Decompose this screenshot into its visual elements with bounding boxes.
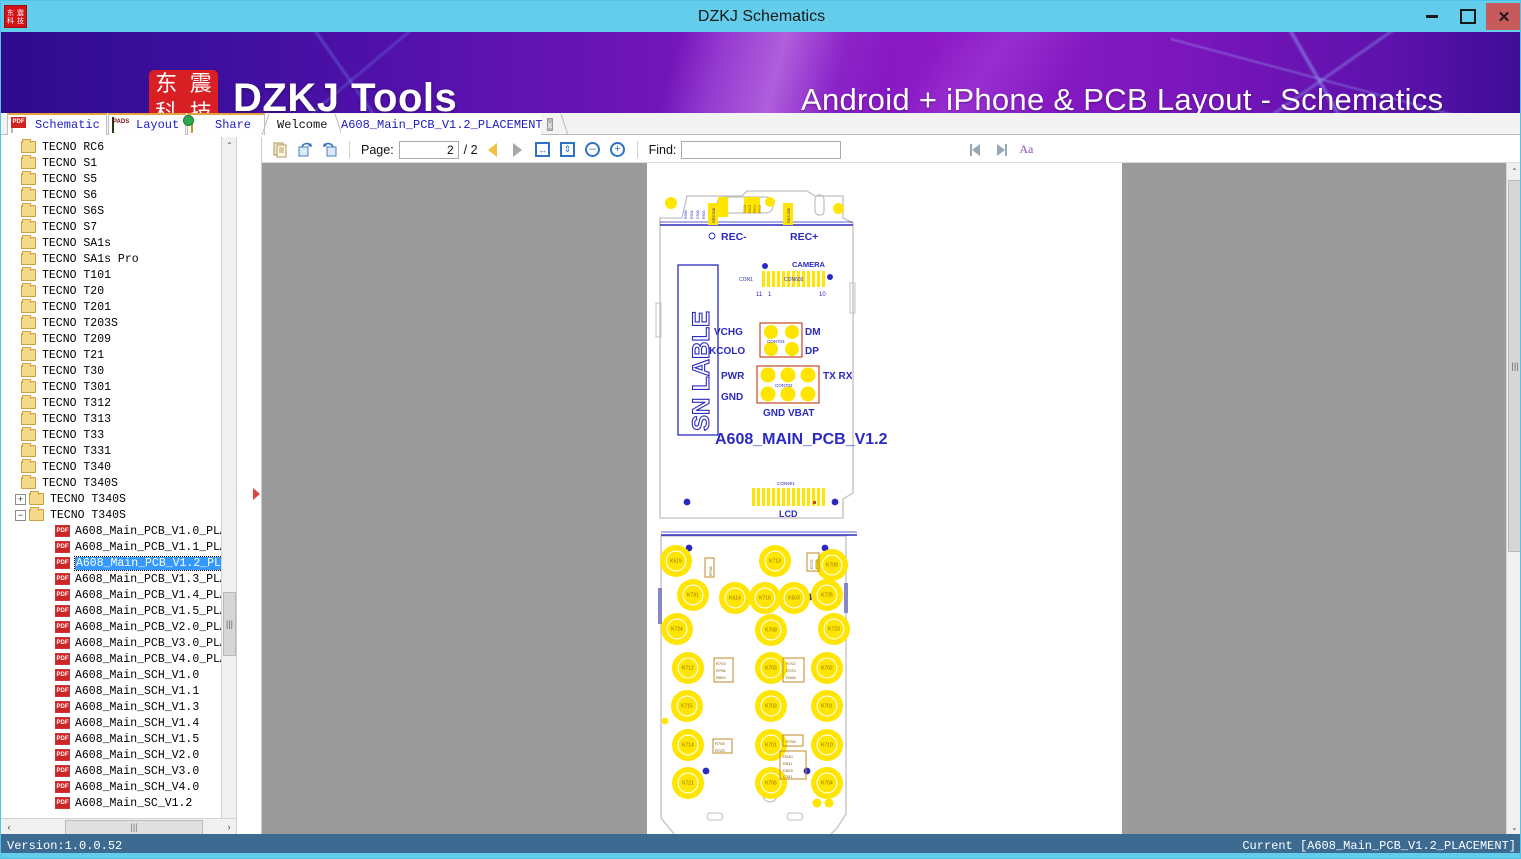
tree-item-folder[interactable]: TECNO T209 <box>1 331 236 347</box>
keypad-label: K731 <box>687 593 699 599</box>
tree-item-document[interactable]: A608_Main_SCH_V1.5 <box>1 731 236 747</box>
page-input[interactable] <box>399 141 459 159</box>
svg-text:R725: R725 <box>715 748 725 753</box>
tree-item-document[interactable]: A608_Main_SCH_V4.0 <box>1 779 236 795</box>
tree-item-label: TECNO S1 <box>42 157 97 170</box>
keypad-label: K701 <box>821 704 833 710</box>
tree-item-label: A608_Main_SCH_V1.3 <box>75 701 199 714</box>
tab-schematic[interactable]: Schematic <box>7 113 107 135</box>
page-label: Page: <box>361 143 394 157</box>
viewer-scroll-down-icon[interactable]: ⌄ <box>1507 819 1521 835</box>
tree-item-label: TECNO SA1s Pro <box>42 253 139 266</box>
keypad-label: K715 <box>681 704 693 710</box>
tree-item-label: A608_Main_PCB_V1.1_PLACEMENT <box>75 541 237 554</box>
svg-text:KCOLO: KCOLO <box>709 346 745 357</box>
share-folder-icon <box>191 118 211 133</box>
sidebar-horizontal-scrollbar[interactable]: ‹ ||| › <box>1 818 237 835</box>
file-tree: TECNO RC6TECNO S1TECNO S5TECNO S6TECNO S… <box>1 137 236 811</box>
tree-item-document[interactable]: A608_Main_PCB_V1.2_PLACEMENT <box>1 555 236 571</box>
tree-item-label: TECNO S6S <box>42 205 104 218</box>
h-scroll-thumb[interactable]: ||| <box>65 820 203 835</box>
current-document-label: Current [A608_Main_PCB_V1.2_PLACEMENT] <box>1242 839 1516 853</box>
svg-text:CON601: CON601 <box>777 481 795 486</box>
folder-icon <box>21 429 36 441</box>
tree-item-label: TECNO T312 <box>42 397 111 410</box>
svg-text:REC308: REC308 <box>711 207 716 223</box>
find-next-icon[interactable] <box>991 140 1011 160</box>
svg-text:PWR: PWR <box>721 371 745 382</box>
rotate-counterclockwise-icon[interactable] <box>320 140 340 160</box>
keypad-label: K703 <box>765 704 777 710</box>
tab-share[interactable]: Share <box>187 113 265 135</box>
tree-item-folder[interactable]: TECNO S5 <box>1 171 236 187</box>
pdf-page: R506 R501 C508 R503 C508 R503 R501 R506 … <box>647 163 1122 835</box>
tree-item-folder[interactable]: TECNO T20 <box>1 283 236 299</box>
collapse-icon[interactable]: − <box>15 510 26 521</box>
brand-logo-char-1: 东 <box>155 74 177 96</box>
brand-logo-char-3: 科 <box>155 103 177 114</box>
tree-item-document[interactable]: A608_Main_PCB_V1.0_PLACEMENT <box>1 523 236 539</box>
find-previous-icon[interactable] <box>966 140 986 160</box>
folder-icon <box>21 413 36 425</box>
brand-logo-char-2: 震 <box>190 74 212 96</box>
tree-item-label: TECNO RC6 <box>42 141 104 154</box>
folder-icon <box>21 461 36 473</box>
svg-text:TX RX: TX RX <box>823 371 853 382</box>
svg-text:R708: R708 <box>814 559 819 569</box>
scroll-right-icon[interactable]: › <box>221 820 237 835</box>
brand-name: DZKJ Tools <box>233 76 457 113</box>
svg-text:R702: R702 <box>786 661 796 666</box>
tree-item-label: TECNO T33 <box>42 429 104 442</box>
pdf-icon <box>11 118 31 133</box>
tree-item-document[interactable]: A608_Main_PCB_V4.0_PLACEMENT <box>1 651 236 667</box>
keypad-label: K703 <box>765 666 777 672</box>
folder-icon <box>21 445 36 457</box>
tree-item-label: TECNO T101 <box>42 269 111 282</box>
folder-icon <box>21 173 36 185</box>
tree-item-folder[interactable]: TECNO S6S <box>1 203 236 219</box>
pdf-icon <box>55 637 70 649</box>
maximize-button[interactable] <box>1450 3 1486 30</box>
page-total: / 2 <box>464 143 478 157</box>
folder-icon <box>21 157 36 169</box>
svg-text:R506: R506 <box>758 205 762 213</box>
tree-item-label: TECNO T20 <box>42 285 104 298</box>
doc-tab-welcome[interactable]: Welcome <box>265 114 345 135</box>
tree-item-document[interactable]: A608_Main_PCB_V1.5_PLACEMENT <box>1 603 236 619</box>
svg-text:R708: R708 <box>708 566 713 576</box>
svg-text:R723: R723 <box>786 668 796 673</box>
tree-item-label: TECNO T340 <box>42 461 111 474</box>
tree-item-label: TECNO T21 <box>42 349 104 362</box>
tree-item-label: TECNO S6 <box>42 189 97 202</box>
tree-item-document[interactable]: A608_Main_SCH_V1.0 <box>1 667 236 683</box>
tree-item-folder[interactable]: TECNO S7 <box>1 219 236 235</box>
tree-item-label: A608_Main_PCB_V1.2_PLACEMENT <box>75 557 237 570</box>
pdf-viewer: Page: / 2 ↔ ⇕ – + Find: Aa <box>261 137 1521 835</box>
brand-logo-icon: 东 震 科 技 <box>149 70 218 113</box>
tree-item-label: A608_Main_SCH_V4.0 <box>75 781 199 794</box>
tree-item-document[interactable]: A608_Main_SC_V1.2 <box>1 795 236 811</box>
viewer-scrollbar[interactable]: ⌃ ||| ⌄ <box>1506 163 1521 835</box>
keypad-label: K702 <box>821 666 833 672</box>
pdf-icon <box>55 797 70 809</box>
keypad-label: K503 <box>788 596 800 602</box>
tree-item-folder[interactable]: TECNO T203S <box>1 315 236 331</box>
sidebar-scrollbar[interactable]: ⌃ ||| ⌄ <box>221 137 236 835</box>
toolbar-divider <box>349 141 350 158</box>
next-page-icon[interactable] <box>508 140 528 160</box>
tree-item-folder[interactable]: TECNO SA1s Pro <box>1 251 236 267</box>
svg-text:DP: DP <box>805 346 819 357</box>
keypad-label: K712 <box>682 666 694 672</box>
viewer-toolbar: Page: / 2 ↔ ⇕ – + Find: Aa <box>262 137 1521 163</box>
viewer-scroll-up-icon[interactable]: ⌃ <box>1507 163 1521 179</box>
previous-page-icon[interactable] <box>483 140 503 160</box>
svg-text:R506: R506 <box>684 210 688 219</box>
pdf-icon <box>55 765 70 777</box>
folder-icon <box>21 397 36 409</box>
folder-icon <box>21 317 36 329</box>
svg-text:VCHG: VCHG <box>714 327 743 338</box>
folder-icon <box>21 285 36 297</box>
svg-text:R708: R708 <box>715 741 725 746</box>
svg-text:R240: R240 <box>783 754 793 759</box>
pdf-icon <box>55 589 70 601</box>
pads-icon <box>112 118 132 133</box>
tree-item-folder[interactable]: TECNO T331 <box>1 443 236 459</box>
pdf-icon <box>55 733 70 745</box>
keypad-label: K716 <box>759 596 771 602</box>
tree-item-label: A608_Main_SCH_V2.0 <box>75 749 199 762</box>
svg-text:CON602: CON602 <box>784 277 804 283</box>
keypad-label: K709 <box>826 563 838 569</box>
find-label: Find: <box>649 143 677 157</box>
tree-item-label: TECNO T340S <box>50 509 126 522</box>
folder-icon <box>21 253 36 265</box>
tree-item-label: A608_Main_PCB_V2.0_PLACEMENT <box>75 621 237 634</box>
folder-icon <box>21 237 36 249</box>
keypad-label: K723 <box>828 627 840 633</box>
svg-text:CON1: CON1 <box>739 277 753 283</box>
tree-item-folder[interactable]: TECNO SA1s <box>1 235 236 251</box>
banner-tagline: Android + iPhone & PCB Layout - Schemati… <box>801 82 1443 113</box>
keypad-label: K713 <box>769 559 781 565</box>
tree-item-label: A608_Main_SCH_V3.0 <box>75 765 199 778</box>
folder-icon <box>21 141 36 153</box>
tree-item-label: TECNO S7 <box>42 221 97 234</box>
tree-item-folder[interactable]: TECNO T201 <box>1 299 236 315</box>
tree-item-folder[interactable]: TECNO RC6 <box>1 139 236 155</box>
tree-item-label: TECNO T340S <box>50 493 126 506</box>
pdf-icon <box>55 701 70 713</box>
tree-item-label: TECNO T201 <box>42 301 111 314</box>
status-bar-accent <box>1 853 1521 858</box>
tree-item-label: TECNO T301 <box>42 381 111 394</box>
svg-text:R803: R803 <box>716 675 726 680</box>
tree-item-folder[interactable]: TECNO T33 <box>1 427 236 443</box>
svg-text:REC+: REC+ <box>790 231 818 243</box>
pdf-icon <box>55 669 70 681</box>
svg-text:R708: R708 <box>716 668 726 673</box>
page-canvas-area[interactable]: R506 R501 C508 R503 C508 R503 R501 R506 … <box>262 163 1507 835</box>
brand-logo-char-4: 技 <box>190 103 212 114</box>
tree-item-document[interactable]: A608_Main_SCH_V1.4 <box>1 715 236 731</box>
tree-item-label: A608_Main_PCB_V1.3_PLACEMENT <box>75 573 237 586</box>
svg-text:R541: R541 <box>783 761 793 766</box>
keypad-label: K724 <box>671 627 683 633</box>
tree-item-folder[interactable]: TECNO T313 <box>1 411 236 427</box>
svg-text:R408: R408 <box>786 675 796 680</box>
zoom-out-icon[interactable]: – <box>583 140 603 160</box>
keypad-label: K706 <box>765 781 777 787</box>
svg-text:CON702: CON702 <box>775 383 793 388</box>
svg-text:GND: GND <box>721 392 743 403</box>
find-options-icon[interactable]: Aa <box>1016 140 1036 160</box>
pdf-icon <box>55 557 70 569</box>
tab-layout[interactable]: Layout <box>108 113 186 135</box>
svg-text:R703: R703 <box>716 661 726 666</box>
tree-item-folder[interactable]: TECNO S6 <box>1 187 236 203</box>
tree-item-document[interactable]: A608_Main_PCB_V1.4_PLACEMENT <box>1 587 236 603</box>
tree-item-document[interactable]: A608_Main_SCH_V1.1 <box>1 683 236 699</box>
tree-item-folder[interactable]: TECNO T101 <box>1 267 236 283</box>
copy-icon[interactable] <box>270 140 290 160</box>
tree-item-label: TECNO T203S <box>42 317 118 330</box>
tree-item-document[interactable]: A608_Main_PCB_V3.0_PLACEMENT <box>1 635 236 651</box>
folder-icon <box>21 221 36 233</box>
tree-item-label: TECNO T209 <box>42 333 111 346</box>
keypad-label: K614 <box>729 596 741 602</box>
svg-text:R708: R708 <box>786 739 796 744</box>
mode-tab-bar: Schematic Layout Share <box>1 113 1521 135</box>
svg-text:DM: DM <box>805 327 821 338</box>
tab-layout-label: Layout <box>136 118 179 132</box>
viewer-scrollbar-thumb[interactable]: ||| <box>1508 180 1521 552</box>
window-controls: ✕ <box>1414 3 1521 30</box>
keypad-label: K714 <box>682 743 694 749</box>
sidebar-collapse-arrow-icon[interactable] <box>253 488 260 500</box>
doc-tab-placement[interactable]: A608_Main_PCB_V1.2_PLACEMENT x <box>341 114 541 135</box>
pdf-icon <box>55 525 70 537</box>
close-button[interactable]: ✕ <box>1486 3 1521 30</box>
svg-text:REC-: REC- <box>721 231 747 243</box>
tree-item-folder[interactable]: TECNO S1 <box>1 155 236 171</box>
svg-text:10: 10 <box>819 292 826 298</box>
tree-item-label: A608_Main_SCH_V1.1 <box>75 685 199 698</box>
svg-text:R503: R503 <box>702 210 706 219</box>
tree-item-label: A608_Main_PCB_V3.0_PLACEMENT <box>75 637 237 650</box>
doc-tab-welcome-label: Welcome <box>277 118 327 132</box>
keypad-label: K708 <box>765 628 777 634</box>
svg-text:C508: C508 <box>696 210 700 219</box>
svg-text:REC306: REC306 <box>786 207 791 223</box>
tree-item-folder[interactable]: +TECNO T340S <box>1 491 236 507</box>
tree-item-document[interactable]: A608_Main_SCH_V2.0 <box>1 747 236 763</box>
tree-item-folder[interactable]: TECNO T30 <box>1 363 236 379</box>
tree-item-folder[interactable]: TECNO T340S <box>1 475 236 491</box>
folder-icon <box>21 477 36 489</box>
expand-icon[interactable]: + <box>15 494 26 505</box>
folder-icon <box>21 205 36 217</box>
svg-text:C341: C341 <box>783 774 793 779</box>
svg-text:CAMERA: CAMERA <box>792 260 825 269</box>
folder-icon <box>21 189 36 201</box>
svg-text:A608_MAIN_PCB_V1.2: A608_MAIN_PCB_V1.2 <box>715 431 888 448</box>
h-scroll-track[interactable]: ||| <box>17 820 221 835</box>
svg-text:SN LABLE: SN LABLE <box>688 311 715 431</box>
scroll-left-icon[interactable]: ‹ <box>1 820 17 835</box>
folder-icon <box>21 269 36 281</box>
tree-item-label: A608_Main_SC_V1.2 <box>75 797 192 810</box>
doc-tab-placement-label: A608_Main_PCB_V1.2_PLACEMENT <box>341 118 543 132</box>
keypad-label: K721 <box>682 781 694 787</box>
pdf-icon <box>55 621 70 633</box>
keypad-label: K710 <box>821 743 833 749</box>
tree-item-label: TECNO T340S <box>42 477 118 490</box>
fit-page-icon[interactable]: ⇕ <box>558 140 578 160</box>
pdf-icon <box>55 653 70 665</box>
tree-item-document[interactable]: A608_Main_PCB_V1.3_PLACEMENT <box>1 571 236 587</box>
tree-item-label: A608_Main_PCB_V1.0_PLACEMENT <box>75 525 237 538</box>
window-title: DZKJ Schematics <box>1 1 1521 32</box>
svg-text:11: 11 <box>756 292 763 298</box>
folder-icon <box>29 509 44 521</box>
tree-item-label: A608_Main_SCH_V1.0 <box>75 669 199 682</box>
svg-text:GND VBAT: GND VBAT <box>763 408 814 419</box>
tree-item-folder[interactable]: TECNO T21 <box>1 347 236 363</box>
tree-item-label: TECNO T30 <box>42 365 104 378</box>
pdf-icon <box>55 685 70 697</box>
minimize-button[interactable] <box>1414 3 1450 30</box>
svg-text:1: 1 <box>768 292 772 298</box>
tree-item-folder[interactable]: TECNO T312 <box>1 395 236 411</box>
svg-text:R503: R503 <box>748 205 752 213</box>
tab-edge-right <box>324 114 343 135</box>
folder-icon <box>21 365 36 377</box>
fit-width-icon[interactable]: ↔ <box>533 140 553 160</box>
svg-text:D503: D503 <box>783 768 793 773</box>
svg-text:LCD: LCD <box>779 509 798 519</box>
tree-item-document[interactable]: A608_Main_PCB_V1.1_PLACEMENT <box>1 539 236 555</box>
tree-item-label: A608_Main_SCH_V1.5 <box>75 733 199 746</box>
tree-item-label: TECNO S5 <box>42 173 97 186</box>
tree-item-label: A608_Main_PCB_V1.4_PLACEMENT <box>75 589 237 602</box>
file-tree-sidebar[interactable]: TECNO RC6TECNO S1TECNO S5TECNO S6TECNO S… <box>1 137 237 835</box>
brand-banner: 东 震 科 技 DZKJ Tools Android + iPhone & PC… <box>1 32 1521 113</box>
svg-text:C508: C508 <box>743 205 747 213</box>
scroll-up-icon[interactable]: ⌃ <box>222 137 237 153</box>
pdf-icon <box>55 781 70 793</box>
pdf-icon <box>55 541 70 553</box>
tab-share-label: Share <box>215 118 251 132</box>
tree-item-label: TECNO T313 <box>42 413 111 426</box>
sidebar-scrollbar-thumb[interactable]: ||| <box>223 592 236 656</box>
keypad-label: K519 <box>670 559 682 565</box>
folder-icon <box>29 493 44 505</box>
keypad-label: K704 <box>821 781 833 787</box>
pcb-placement-drawing: R506 R501 C508 R503 C508 R503 R501 R506 … <box>647 163 1122 835</box>
version-label: Version:1.0.0.52 <box>7 839 122 853</box>
svg-text:R501: R501 <box>690 210 694 219</box>
keypad-label: K701 <box>765 743 777 749</box>
folder-icon <box>21 349 36 361</box>
folder-icon <box>21 333 36 345</box>
tree-item-label: A608_Main_PCB_V1.5_PLACEMENT <box>75 605 237 618</box>
tree-item-label: TECNO T331 <box>42 445 111 458</box>
application-window: 东 震 科 技 DZKJ Schematics ✕ 东 震 科 技 DZKJ T… <box>0 0 1521 859</box>
tree-item-folder[interactable]: TECNO T340 <box>1 459 236 475</box>
folder-icon <box>21 301 36 313</box>
tree-item-label: TECNO SA1s <box>42 237 111 250</box>
tab-schematic-label: Schematic <box>35 118 100 132</box>
tree-item-folder[interactable]: −TECNO T340S <box>1 507 236 523</box>
title-bar: 东 震 科 技 DZKJ Schematics ✕ <box>1 1 1521 32</box>
toolbar-divider <box>637 141 638 158</box>
rotate-clockwise-icon[interactable] <box>295 140 315 160</box>
folder-icon <box>21 381 36 393</box>
tree-item-label: A608_Main_PCB_V4.0_PLACEMENT <box>75 653 237 666</box>
pdf-icon <box>55 717 70 729</box>
tree-item-document[interactable]: A608_Main_SCH_V3.0 <box>1 763 236 779</box>
keypad-label: K725 <box>821 593 833 599</box>
pdf-icon <box>55 573 70 585</box>
tree-item-document[interactable]: A608_Main_SCH_V1.3 <box>1 699 236 715</box>
pdf-icon <box>55 749 70 761</box>
find-input[interactable] <box>681 141 841 159</box>
tree-item-label: A608_Main_SCH_V1.4 <box>75 717 199 730</box>
pdf-icon <box>55 605 70 617</box>
tree-item-folder[interactable]: TECNO T301 <box>1 379 236 395</box>
zoom-in-icon[interactable]: + <box>608 140 628 160</box>
svg-text:CON703: CON703 <box>767 339 785 344</box>
tree-item-document[interactable]: A608_Main_PCB_V2.0_PLACEMENT <box>1 619 236 635</box>
svg-text:R501: R501 <box>753 205 757 213</box>
